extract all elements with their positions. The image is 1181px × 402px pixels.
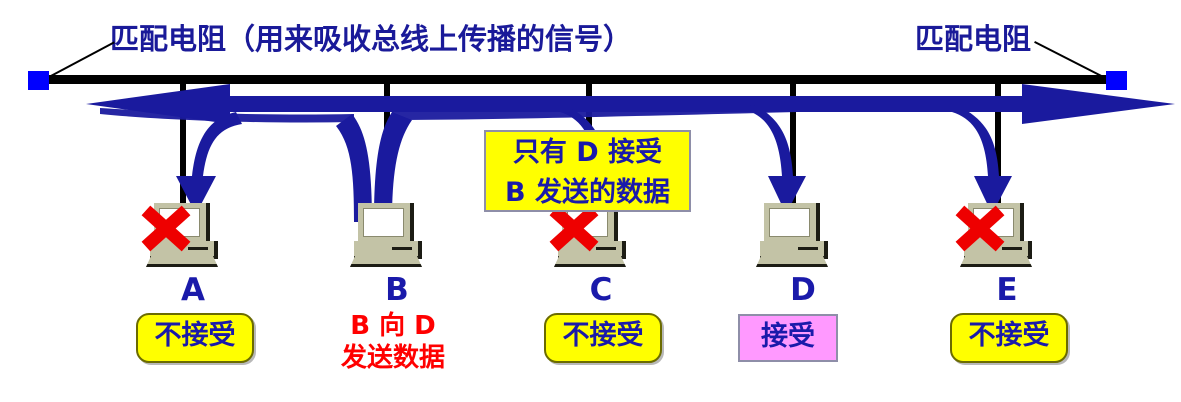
sender-note-line2: 发送数据 (293, 342, 493, 374)
computer-icon-a (146, 203, 220, 265)
terminator-right-caption: 匹配电阻 (915, 16, 1031, 58)
status-badge-e: 不接受 (950, 313, 1068, 363)
status-badge-d: 接受 (738, 314, 838, 362)
terminator-left-icon (28, 71, 49, 90)
node-label-c: C (561, 272, 641, 308)
computer-stand (960, 256, 1032, 267)
bus-cable (42, 75, 1112, 84)
terminator-right-icon (1106, 71, 1127, 90)
computer-stand (350, 256, 422, 267)
computer-stand (554, 256, 626, 267)
drop-line-e (995, 84, 1001, 208)
monitor-screen (973, 208, 1014, 237)
sender-note: B 向 D 发送数据 (293, 310, 493, 374)
drop-line-a (180, 84, 186, 208)
drive-slot (392, 247, 412, 250)
drop-line-b (384, 84, 390, 208)
node-label-b: B (357, 272, 437, 308)
drive-slot (188, 247, 208, 250)
monitor-screen (769, 208, 810, 237)
computer-icon-b (350, 203, 424, 265)
node-label-e: E (967, 272, 1047, 308)
drive-slot (1002, 247, 1022, 250)
drive-slot (596, 247, 616, 250)
callout-line1: 只有 D 接受 (486, 133, 689, 173)
drive-slot (798, 247, 818, 250)
status-badge-c: 不接受 (544, 313, 662, 363)
computer-stand (756, 256, 828, 267)
status-badge-a: 不接受 (136, 313, 254, 363)
drop-line-d (790, 84, 796, 208)
sender-note-line1: B 向 D (293, 310, 493, 342)
computer-stand (146, 256, 218, 267)
monitor-screen (159, 208, 200, 237)
terminator-left-caption: 匹配电阻（用来吸收总线上传播的信号） (110, 16, 632, 58)
callout-box: 只有 D 接受 B 发送的数据 (484, 130, 691, 212)
leader-line-left (45, 41, 115, 79)
node-label-a: A (153, 272, 233, 308)
leader-line-right (1034, 41, 1106, 79)
monitor-screen (363, 208, 404, 237)
bus-topology-diagram: 匹配电阻（用来吸收总线上传播的信号） 匹配电阻 (0, 0, 1181, 402)
node-label-d: D (763, 272, 843, 308)
callout-line2: B 发送的数据 (486, 173, 689, 213)
computer-icon-d (756, 203, 830, 265)
computer-icon-e (960, 203, 1034, 265)
